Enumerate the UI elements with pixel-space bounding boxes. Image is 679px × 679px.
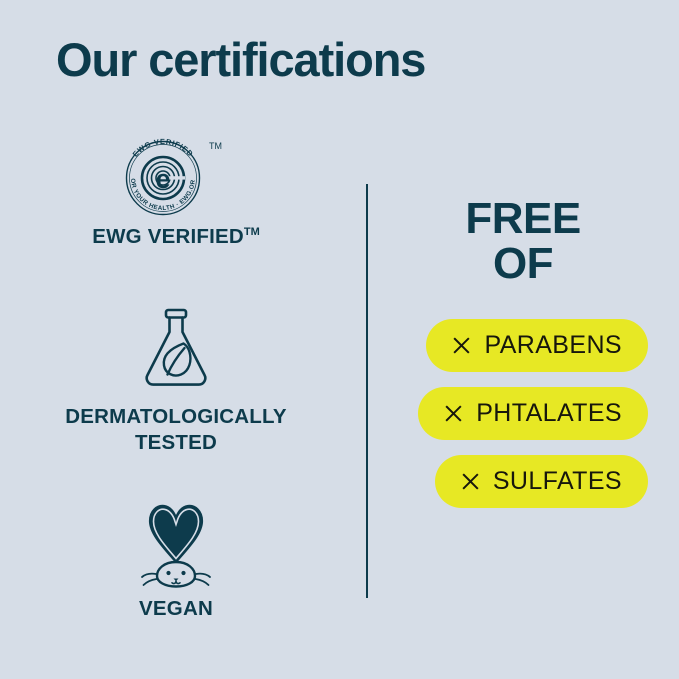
- vegan-bunny-heart-icon: [0, 492, 352, 588]
- free-of-section: FREE OF PARABENS PHTALATES SULFATE: [398, 196, 648, 508]
- certification-item-ewg-verified: · EWG VERIFIED · FOR YOUR HEALTH · EWG.O…: [0, 132, 352, 250]
- free-of-item-sulfates: SULFATES: [435, 455, 648, 508]
- free-of-item-label: PARABENS: [484, 331, 622, 360]
- free-of-heading: FREE OF: [398, 196, 648, 287]
- free-of-list: PARABENS PHTALATES SULFATES: [398, 319, 648, 508]
- page-title: Our certifications: [56, 34, 425, 86]
- trademark-symbol: TM: [244, 226, 260, 238]
- certification-item-vegan: VEGAN: [0, 492, 352, 622]
- free-of-heading-line1: FREE: [398, 196, 648, 241]
- certification-label-ewg-verified: EWG VERIFIEDTM: [0, 224, 352, 250]
- free-of-item-parabens: PARABENS: [426, 319, 648, 372]
- vertical-divider: [366, 184, 368, 598]
- certification-label-vegan: VEGAN: [0, 596, 352, 622]
- free-of-item-phtalates: PHTALATES: [418, 387, 648, 440]
- free-of-item-label: SULFATES: [493, 467, 622, 496]
- svg-text:e: e: [155, 164, 170, 194]
- x-mark-icon: [452, 336, 471, 355]
- flask-leaf-icon: [0, 300, 352, 396]
- x-mark-icon: [461, 472, 480, 491]
- certification-label-dermatologically-tested: DERMATOLOGICALLY TESTED: [0, 404, 352, 456]
- certifications-panel: Our certifications · EWG VERIFIED ·: [0, 0, 679, 679]
- free-of-item-label: PHTALATES: [476, 399, 622, 428]
- certification-item-dermatologically-tested: DERMATOLOGICALLY TESTED: [0, 300, 352, 456]
- seal-trademark: TM: [209, 141, 222, 151]
- certification-label-line1: DERMATOLOGICALLY: [65, 405, 287, 428]
- certification-label-text: EWG VERIFIED: [92, 225, 244, 248]
- free-of-heading-line2: OF: [398, 241, 648, 286]
- certification-label-line2: TESTED: [135, 431, 217, 454]
- svg-text:· EWG VERIFIED ·: · EWG VERIFIED ·: [127, 137, 200, 163]
- certifications-list: · EWG VERIFIED · FOR YOUR HEALTH · EWG.O…: [0, 128, 352, 658]
- x-mark-icon: [444, 404, 463, 423]
- ewg-verified-seal-icon: · EWG VERIFIED · FOR YOUR HEALTH · EWG.O…: [0, 132, 352, 216]
